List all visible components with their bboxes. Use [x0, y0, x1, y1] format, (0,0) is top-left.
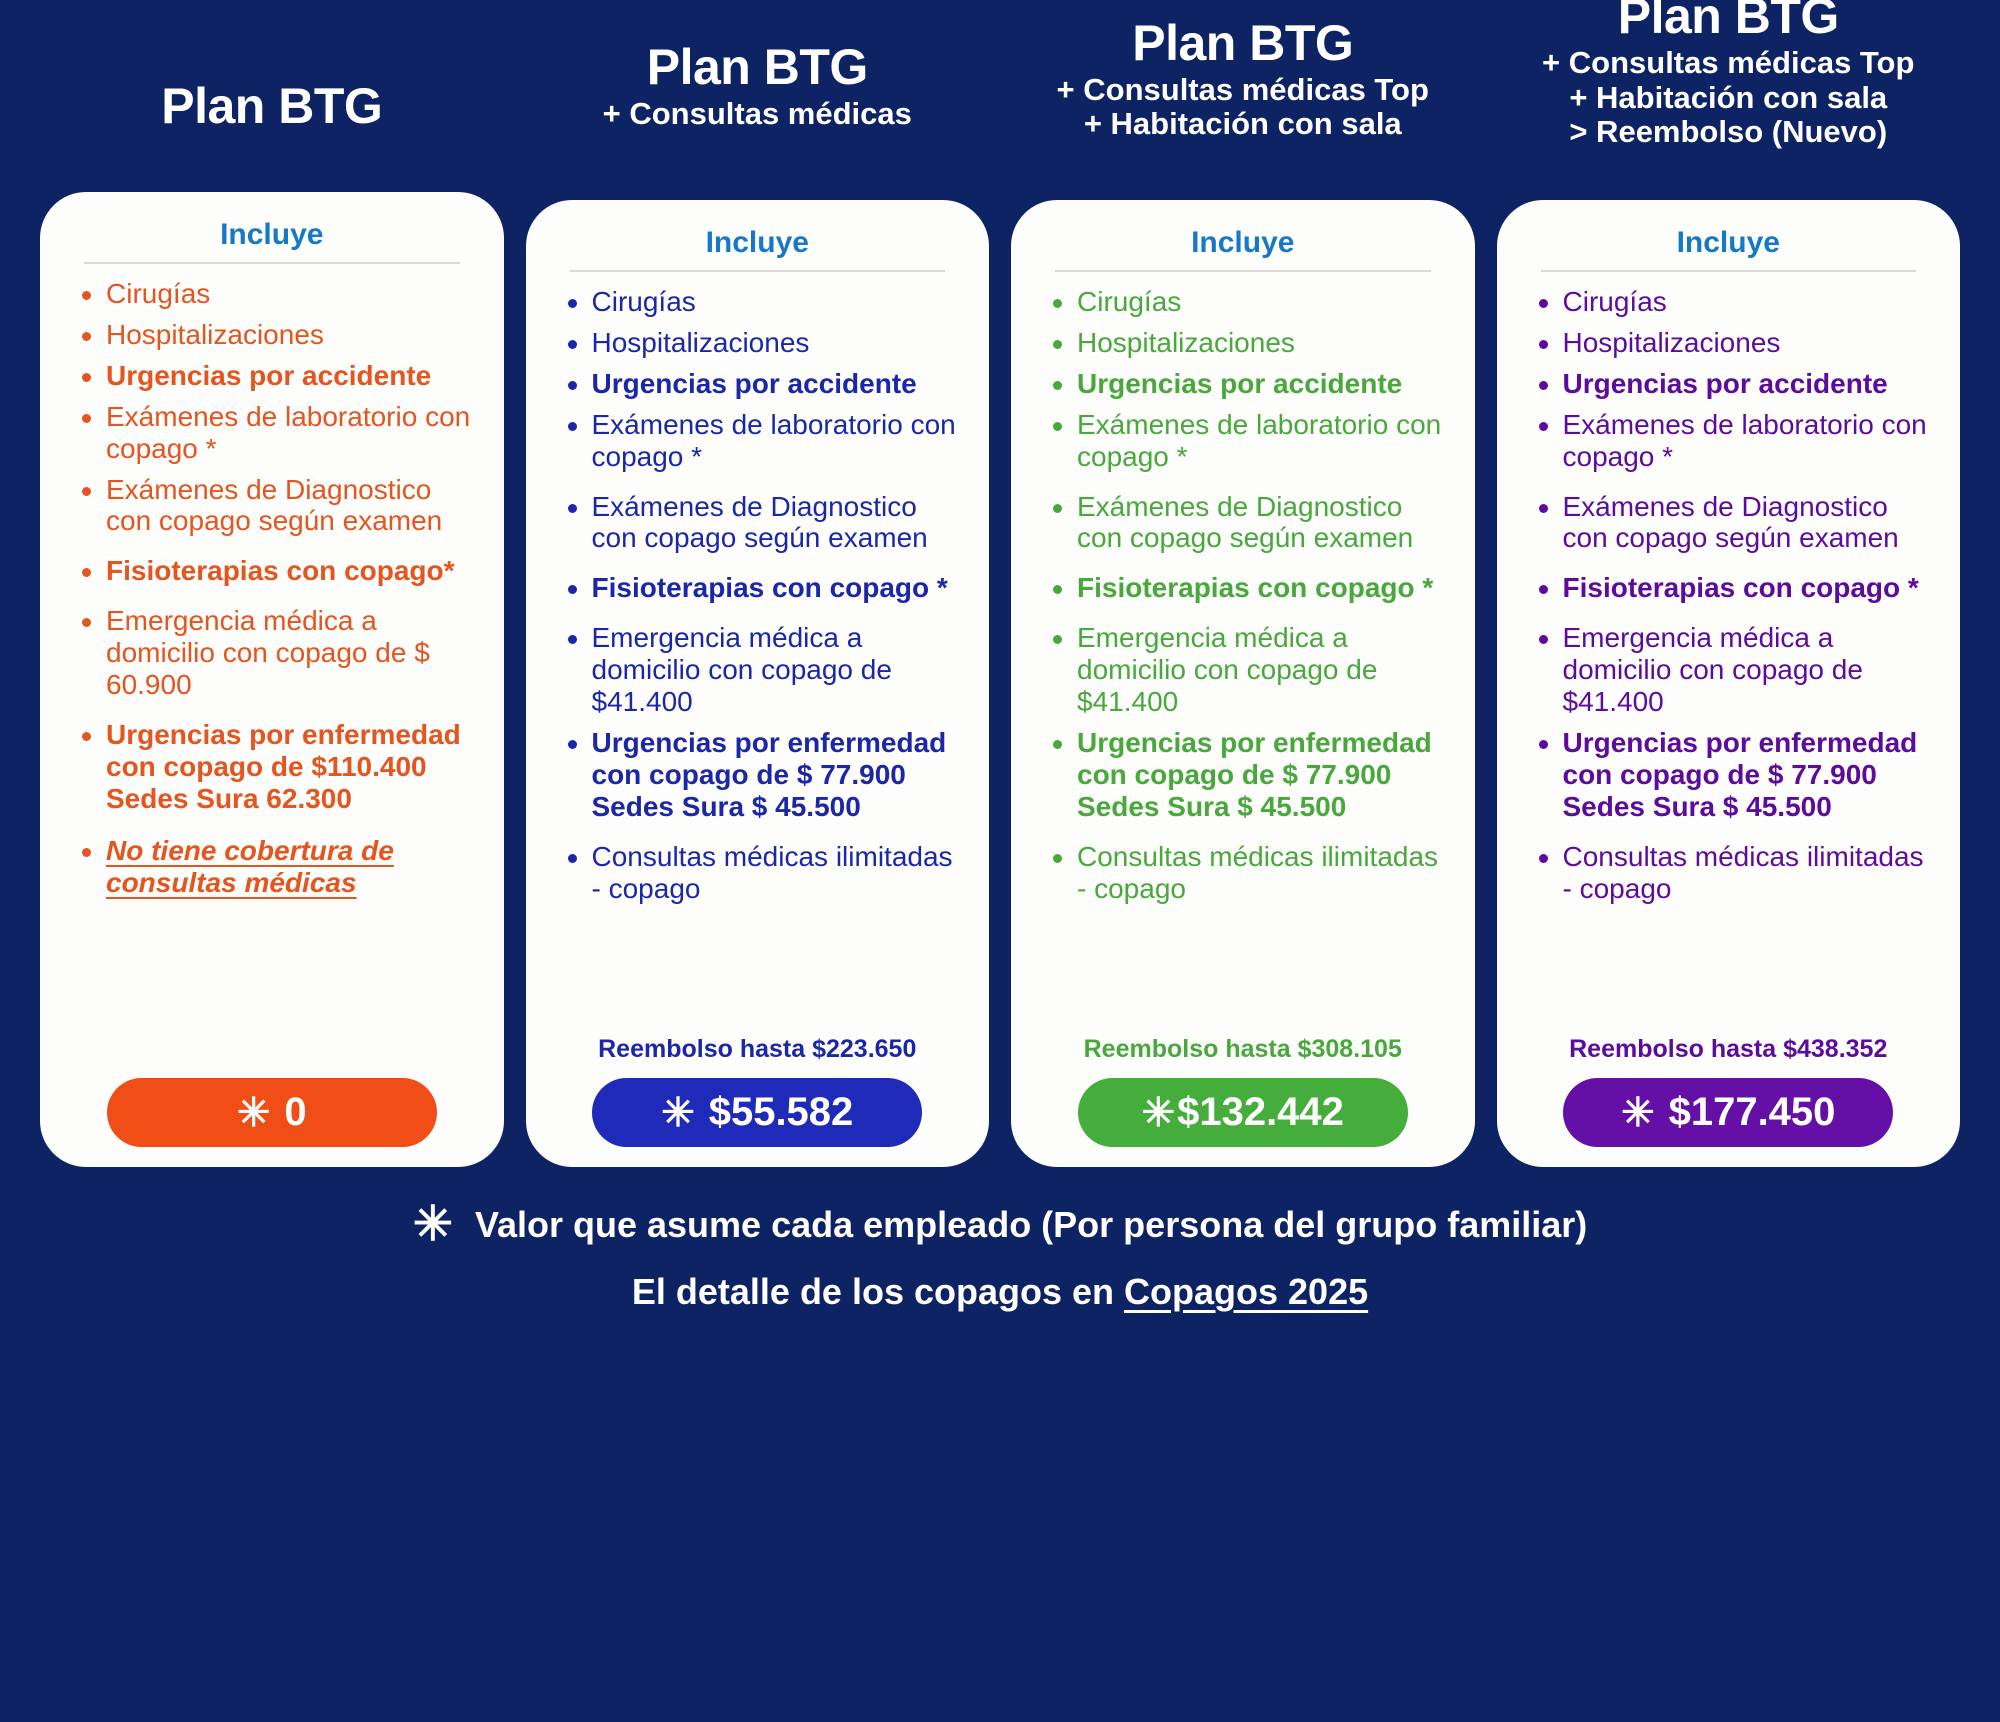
price-pill[interactable]: ✳ $132.442	[1078, 1078, 1408, 1147]
plan-subtitle: + Consultas médicas	[530, 97, 986, 132]
plan-subtitle-line: + Consultas médicas Top	[1015, 73, 1471, 108]
includes-label: Incluye	[58, 218, 486, 252]
feature-list: Cirugías Hospitalizaciones Urgencias por…	[1515, 286, 1943, 914]
list-item: Emergencia médica a domicilio con copago…	[560, 622, 966, 718]
plan-header-4: Plan BTG + Consultas médicas Top + Habit…	[1497, 0, 1961, 150]
list-item: Consultas médicas ilimitadas - copago	[1531, 841, 1937, 905]
plan-column-1: Plan BTG Incluye Cirugías Hospitalizacio…	[40, 0, 504, 1167]
plan-header-1: Plan BTG	[40, 0, 504, 132]
list-item: Exámenes de laboratorio con copago *	[560, 409, 966, 473]
footer-detail-prefix: El detalle de los copagos en	[632, 1271, 1124, 1312]
footer: ✳ Valor que asume cada empleado (Por per…	[0, 1201, 2000, 1313]
price-pill-wrap: ✳ $177.450	[1515, 1078, 1943, 1147]
plan-title: Plan BTG	[1501, 0, 1957, 42]
plan-subtitle: + Consultas médicas Top + Habitación con…	[1015, 73, 1471, 142]
plan-column-3: Plan BTG + Consultas médicas Top + Habit…	[1011, 0, 1475, 1167]
price-value: $177.450	[1669, 1090, 1836, 1135]
includes-label: Incluye	[1029, 226, 1457, 260]
divider	[84, 262, 460, 264]
plan-subtitle-line: + Consultas médicas Top	[1501, 46, 1957, 81]
divider	[570, 270, 946, 272]
feature-list: Cirugías Hospitalizaciones Urgencias por…	[58, 278, 486, 908]
plan-title: Plan BTG	[530, 42, 986, 93]
reembolso-text	[58, 1050, 486, 1064]
plan-card-3: Incluye Cirugías Hospitalizaciones Urgen…	[1011, 200, 1475, 1167]
price-value: 0	[284, 1090, 306, 1135]
list-item: Cirugías	[1045, 286, 1451, 318]
footer-detail-row: El detalle de los copagos en Copagos 202…	[0, 1271, 2000, 1313]
divider	[1055, 270, 1431, 272]
plan-card-2: Incluye Cirugías Hospitalizaciones Urgen…	[526, 200, 990, 1167]
list-item: Exámenes de laboratorio con copago *	[1045, 409, 1451, 473]
plan-card-1: Incluye Cirugías Hospitalizaciones Urgen…	[40, 192, 504, 1167]
list-item: Emergencia médica a domicilio con copago…	[1045, 622, 1451, 718]
footer-note: Valor que asume cada empleado (Por perso…	[475, 1204, 1587, 1246]
list-item: Hospitalizaciones	[560, 327, 966, 359]
list-item: Cirugías	[560, 286, 966, 318]
divider	[1541, 270, 1917, 272]
list-item: Hospitalizaciones	[74, 319, 480, 351]
price-pill-wrap: ✳ $55.582	[544, 1078, 972, 1147]
plan-title: Plan BTG	[1015, 18, 1471, 69]
list-item: Urgencias por enfermedad con copago de $…	[1045, 727, 1451, 823]
list-item: Urgencias por accidente	[74, 360, 480, 392]
list-item: Hospitalizaciones	[1045, 327, 1451, 359]
asterisk-icon: ✳	[661, 1093, 695, 1133]
plan-subtitle: + Consultas médicas Top + Habitación con…	[1501, 46, 1957, 150]
list-item: Urgencias por accidente	[1045, 368, 1451, 400]
list-item: Hospitalizaciones	[1531, 327, 1937, 359]
list-item: Fisioterapias con copago*	[74, 555, 480, 587]
plan-column-4: Plan BTG + Consultas médicas Top + Habit…	[1497, 0, 1961, 1167]
asterisk-icon: ✳	[1621, 1093, 1655, 1133]
reembolso-text: Reembolso hasta $438.352	[1515, 1021, 1943, 1064]
list-item-no-coverage: No tiene cobertura de consultas médicas	[74, 835, 480, 899]
price-pill-wrap: ✳ $132.442	[1029, 1078, 1457, 1147]
asterisk-icon: ✳	[413, 1201, 453, 1249]
list-item: Urgencias por accidente	[560, 368, 966, 400]
price-value: $55.582	[709, 1090, 854, 1135]
plan-column-2: Plan BTG + Consultas médicas Incluye Cir…	[526, 0, 990, 1167]
plan-title: Plan BTG	[161, 81, 382, 132]
list-item: Cirugías	[1531, 286, 1937, 318]
plan-subtitle-line: + Consultas médicas	[530, 97, 986, 132]
list-item: Exámenes de laboratorio con copago *	[74, 401, 480, 465]
list-item: Exámenes de Diagnostico con copago según…	[1045, 491, 1451, 555]
includes-label: Incluye	[544, 226, 972, 260]
list-item: Urgencias por enfermedad con copago de $…	[74, 719, 480, 815]
copagos-link[interactable]: Copagos 2025	[1124, 1271, 1368, 1312]
includes-label: Incluye	[1515, 226, 1943, 260]
plan-subtitle-line: + Habitación con sala	[1501, 81, 1957, 116]
feature-list: Cirugías Hospitalizaciones Urgencias por…	[544, 286, 972, 914]
list-item: Exámenes de laboratorio con copago *	[1531, 409, 1937, 473]
list-item: Consultas médicas ilimitadas - copago	[1045, 841, 1451, 905]
list-item: Emergencia médica a domicilio con copago…	[74, 605, 480, 701]
list-item: Fisioterapias con copago *	[560, 572, 966, 604]
plan-subtitle-line-new: > Reembolso (Nuevo)	[1501, 115, 1957, 150]
price-pill[interactable]: ✳ $177.450	[1563, 1078, 1893, 1147]
price-pill[interactable]: ✳ 0	[107, 1078, 437, 1147]
list-item: Cirugías	[74, 278, 480, 310]
plan-header-2: Plan BTG + Consultas médicas	[526, 0, 990, 132]
list-item: Exámenes de Diagnostico con copago según…	[1531, 491, 1937, 555]
plan-subtitle-line: + Habitación con sala	[1015, 107, 1471, 142]
list-item: Exámenes de Diagnostico con copago según…	[74, 474, 480, 538]
list-item: Urgencias por enfermedad con copago de $…	[560, 727, 966, 823]
list-item: Exámenes de Diagnostico con copago según…	[560, 491, 966, 555]
reembolso-text: Reembolso hasta $223.650	[544, 1021, 972, 1064]
list-item: Urgencias por enfermedad con copago de $…	[1531, 727, 1937, 823]
asterisk-icon: ✳	[1142, 1093, 1176, 1133]
plan-header-3: Plan BTG + Consultas médicas Top + Habit…	[1011, 0, 1475, 142]
list-item: Emergencia médica a domicilio con copago…	[1531, 622, 1937, 718]
footer-note-row: ✳ Valor que asume cada empleado (Por per…	[0, 1201, 2000, 1249]
asterisk-icon: ✳	[237, 1093, 271, 1133]
list-item: Fisioterapias con copago *	[1531, 572, 1937, 604]
feature-list: Cirugías Hospitalizaciones Urgencias por…	[1029, 286, 1457, 914]
list-item: Consultas médicas ilimitadas - copago	[560, 841, 966, 905]
price-value: $132.442	[1177, 1090, 1344, 1135]
plan-card-4: Incluye Cirugías Hospitalizaciones Urgen…	[1497, 200, 1961, 1167]
list-item: Fisioterapias con copago *	[1045, 572, 1451, 604]
plan-columns: Plan BTG Incluye Cirugías Hospitalizacio…	[0, 0, 2000, 1167]
list-item: Urgencias por accidente	[1531, 368, 1937, 400]
reembolso-text: Reembolso hasta $308.105	[1029, 1021, 1457, 1064]
price-pill-wrap: ✳ 0	[58, 1078, 486, 1147]
infographic-root: Plan BTG Incluye Cirugías Hospitalizacio…	[0, 0, 2000, 1722]
price-pill[interactable]: ✳ $55.582	[592, 1078, 922, 1147]
